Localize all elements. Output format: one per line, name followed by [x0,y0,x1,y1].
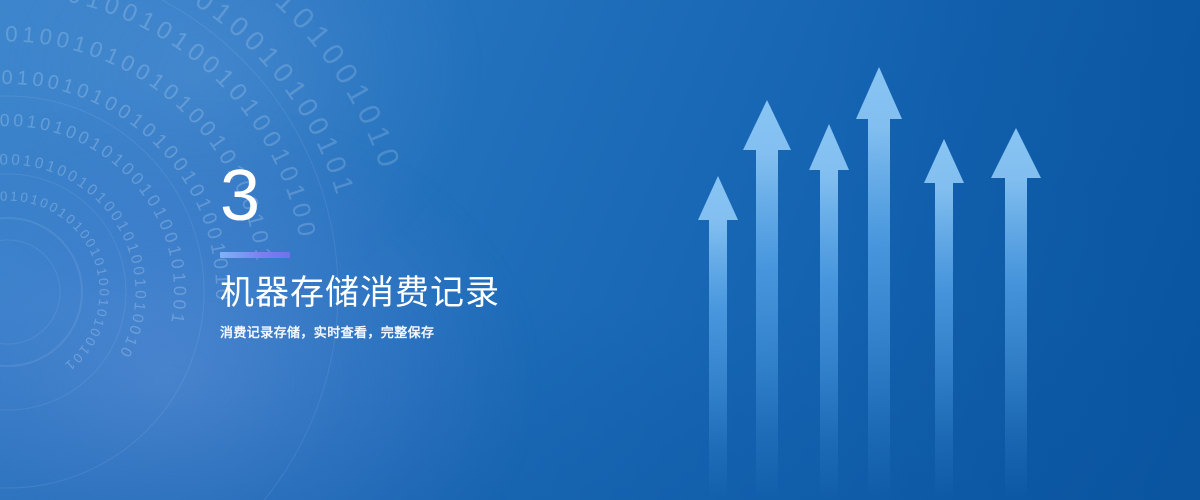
page-subtitle: 消费记录存储，实时查看，完整保存 [220,322,650,341]
page-title: 机器存储消费记录 [220,276,650,312]
slide-canvas: 1001010010100101001010010101001010010100… [0,0,1200,500]
step-number: 3 [220,160,650,234]
text-content-block: 3 机器存储消费记录 消费记录存储，实时查看，完整保存 [220,160,650,341]
title-divider [220,252,290,258]
